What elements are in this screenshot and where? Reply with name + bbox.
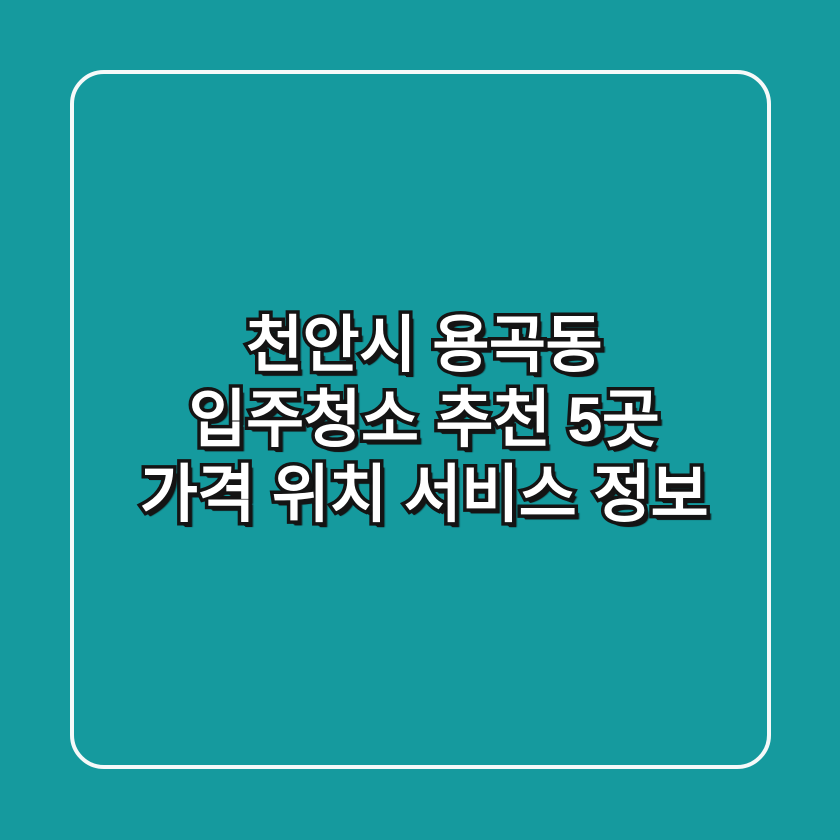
title-block: 천안시 용곡동 입주청소 추천 5곳 가격 위치 서비스 정보 [0, 0, 840, 840]
title-line-3: 가격 위치 서비스 정보 [140, 458, 708, 533]
title-line-1: 천안시 용곡동 [246, 308, 602, 383]
thumbnail-canvas: 천안시 용곡동 입주청소 추천 5곳 가격 위치 서비스 정보 [0, 0, 840, 840]
title-line-2: 입주청소 추천 5곳 [189, 383, 660, 458]
